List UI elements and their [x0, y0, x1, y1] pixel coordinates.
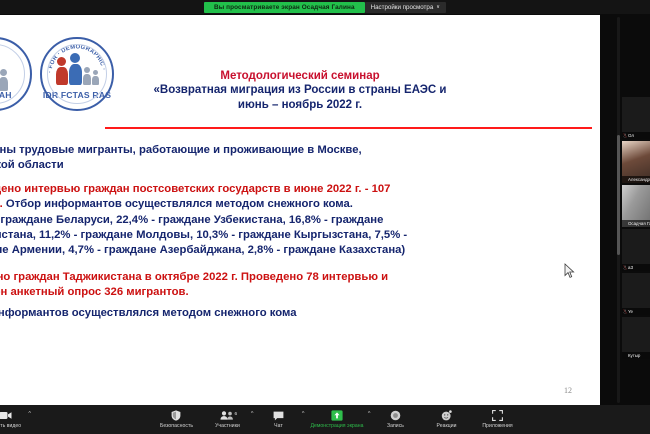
toolbar-share-screen-label: Демонстрация экрана — [310, 423, 363, 429]
toolbar-stop-video-label: новить видео — [0, 423, 21, 429]
participant-thumbnail[interactable]: Ye — [622, 273, 650, 315]
record-icon — [390, 410, 401, 421]
thumbnail-name: Александра — [622, 176, 650, 183]
filmstrip-scroll-thumb[interactable] — [617, 135, 620, 255]
toolbar-participants-label: Участники — [215, 423, 240, 429]
body-line: 3% - граждане Беларуси, 22,4% - граждане… — [0, 213, 600, 228]
thumbnail-name: Осадчая Галина — [622, 220, 650, 227]
reactions-icon — [441, 410, 452, 421]
toolbar-stop-video-button[interactable]: новить видео ^ — [0, 410, 24, 429]
participants-icon — [220, 410, 234, 421]
chevron-up-icon[interactable]: ^ — [28, 412, 31, 418]
zoom-meeting-window: Вы просматриваете экран Осадчая Галина Н… — [0, 0, 650, 434]
participant-thumbnail[interactable]: Кутыр — [622, 317, 650, 359]
toolbar-security-label: Безопасность — [160, 423, 193, 429]
toolbar-apps-button[interactable]: Приложения — [479, 410, 517, 429]
toolbar-reactions-button[interactable]: Реакции — [428, 410, 466, 429]
filmstrip-spacer — [622, 361, 650, 405]
toolbar-left-group: новить видео ^ — [0, 410, 24, 429]
chevron-down-icon: ∨ — [436, 4, 440, 10]
chevron-up-icon[interactable]: ^ — [302, 412, 305, 418]
body-line: ковской области — [0, 158, 600, 173]
camera-icon — [0, 410, 12, 421]
toolbar-reactions-label: Реакции — [436, 423, 456, 429]
chat-icon — [273, 410, 284, 421]
thumbnail-name: Ол — [622, 132, 650, 139]
mouse-cursor-icon — [564, 263, 576, 279]
thumbnail-name: аЗ — [622, 264, 650, 271]
body-line: ждане Армении, 4,7% - граждане Азербайдж… — [0, 243, 600, 258]
body-line: рошены трудовые мигранты, работающие и п… — [0, 143, 600, 158]
paragraph-interviews-june: оведено интервью граждан постсоветских г… — [0, 182, 600, 258]
toolbar-record-label: Запись — [387, 423, 404, 429]
share-screen-icon — [331, 410, 343, 421]
slide-title-line2: «Возвратная миграция из России в страны … — [0, 83, 600, 97]
body-line-blue: Отбор информантов осуществлялся методом … — [3, 198, 353, 210]
view-options-label: Настройки просмотра — [371, 4, 434, 11]
toolbar-center-group: Безопасность 6 Участники ^ — [24, 410, 650, 429]
participant-thumbnail[interactable]: Александра — [622, 141, 650, 183]
toolbar-share-screen-button[interactable]: Демонстрация экрана ^ — [310, 410, 363, 429]
screen-share-banner: Вы просматриваете экран Осадчая Галина Н… — [0, 0, 650, 14]
body-line: веден анкетный опрос 326 мигрантов. — [0, 285, 600, 300]
thumbnail-name: Ye — [622, 308, 650, 315]
paragraph-interviews-october: ошено граждан Таджикистана в октябре 202… — [0, 270, 600, 321]
toolbar-participants-button[interactable]: 6 Участники ^ — [208, 410, 246, 429]
participant-thumbnail[interactable]: аЗ — [622, 229, 650, 271]
body-line-mixed: овек. Отбор информантов осуществлялся ме… — [0, 197, 600, 212]
presentation-slide: ЦИ РАН INSTITUTE · FOR · DEMOGRAPHIC · R… — [0, 15, 600, 405]
filmstrip-top-gap — [622, 15, 650, 95]
view-options-button[interactable]: Настройки просмотра ∨ — [365, 2, 446, 13]
thumbnail-name: Кутыр — [622, 352, 650, 359]
slide-number: 12 — [564, 386, 572, 395]
shield-icon — [171, 410, 181, 421]
participants-count: 6 — [234, 411, 237, 416]
slide-title-line3: июнь – ноябрь 2022 г. — [0, 98, 600, 112]
body-line: оведено интервью граждан постсоветских г… — [0, 182, 600, 197]
body-line: ошено граждан Таджикистана в октябре 202… — [0, 270, 600, 285]
title-divider — [105, 127, 592, 129]
body-line: ор информантов осуществлялся методом сне… — [0, 306, 600, 321]
toolbar-security-button[interactable]: Безопасность — [157, 410, 195, 429]
share-status-text: Вы просматриваете экран Осадчая Галина — [214, 4, 355, 11]
meeting-toolbar: новить видео ^ Безопасность — [0, 405, 650, 434]
toolbar-record-button[interactable]: Запись — [377, 410, 415, 429]
toolbar-apps-label: Приложения — [482, 423, 512, 429]
toolbar-chat-label: Чат — [274, 423, 283, 429]
share-status-pill: Вы просматриваете экран Осадчая Галина — [204, 2, 365, 13]
participant-thumbnail-active[interactable]: Осадчая Галина — [622, 185, 650, 227]
body-line: жикистана, 11,2% - граждане Молдовы, 10,… — [0, 228, 600, 243]
chevron-up-icon[interactable]: ^ — [251, 412, 254, 418]
apps-icon — [492, 410, 503, 421]
participant-thumbnail[interactable]: Ол — [622, 97, 650, 139]
paragraph-respondents: рошены трудовые мигранты, работающие и п… — [0, 143, 600, 173]
participant-filmstrip[interactable]: Ол Александра Осадчая Галина аЗ — [600, 15, 650, 405]
slide-body: рошены трудовые мигранты, работающие и п… — [0, 143, 600, 330]
toolbar-chat-button[interactable]: Чат ^ — [259, 410, 297, 429]
chevron-up-icon[interactable]: ^ — [368, 412, 371, 418]
shared-screen-area[interactable]: ЦИ РАН INSTITUTE · FOR · DEMOGRAPHIC · R… — [0, 15, 600, 405]
